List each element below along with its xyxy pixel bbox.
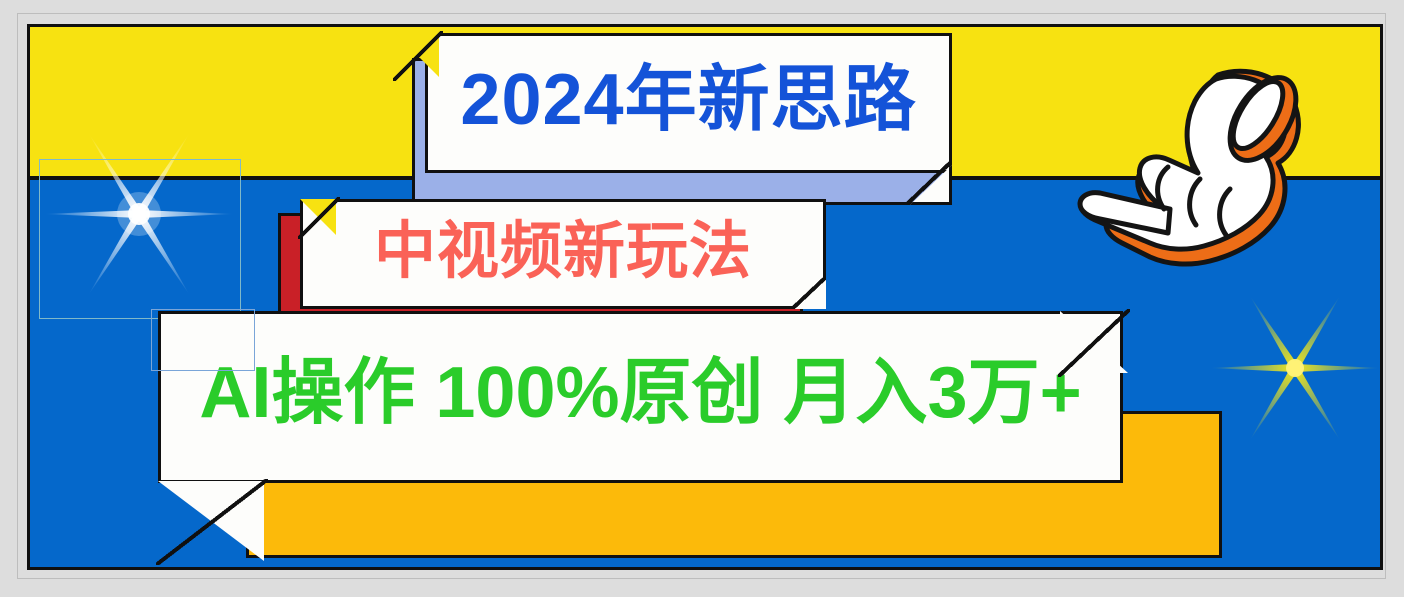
poster-canvas: 2024年新思路 中视频新玩法 AI操作 100%原创 月入3万+: [27, 24, 1383, 570]
banner-headline-3[interactable]: AI操作 100%原创 月入3万+: [136, 311, 1226, 561]
banner-1-sheet: 2024年新思路: [425, 33, 952, 173]
banner-3-fold-top-right-line: [1058, 309, 1130, 377]
banner-3-sheet: AI操作 100%原创 月入3万+: [158, 311, 1123, 483]
banner-1-fold-bottom-right-line: [906, 161, 952, 205]
pointing-hand-icon: [1050, 59, 1312, 289]
pointing-hand-svg: [1050, 59, 1312, 289]
sparkle-left-selection-box[interactable]: [39, 159, 241, 319]
banner-3-fold-bottom-left-line: [156, 479, 268, 565]
banner-2-text: 中视频新玩法: [303, 221, 823, 287]
banner-1-fold-top-left-line: [393, 31, 443, 81]
banner-3-selection-box[interactable]: [151, 309, 255, 371]
poster-frame: 2024年新思路 中视频新玩法 AI操作 100%原创 月入3万+: [0, 0, 1404, 597]
banner-headline-1[interactable]: 2024年新思路: [382, 30, 952, 205]
banner-2-sheet: 中视频新玩法: [300, 199, 826, 309]
banner-2-fold-bottom-right-line: [792, 277, 826, 309]
banner-1-text: 2024年新思路: [428, 64, 949, 142]
banner-3-text: AI操作 100%原创 月入3万+: [161, 357, 1120, 437]
banner-2-fold-top-left-line: [298, 197, 340, 239]
